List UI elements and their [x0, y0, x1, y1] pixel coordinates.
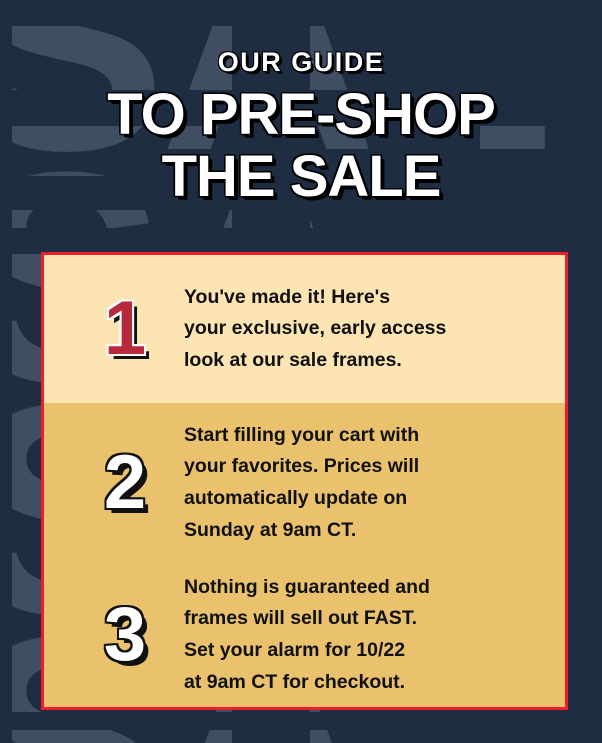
step-number: 3 — [66, 597, 184, 673]
headline-block: OUR GUIDE TO PRE-SHOP THE SALE — [0, 48, 602, 209]
step-text-line: automatically update on — [184, 483, 547, 515]
step-row: 3 Nothing is guaranteed and frames will … — [44, 563, 565, 707]
step-text-line: Set your alarm for 10/22 — [184, 635, 547, 667]
step-number: 1 — [66, 291, 184, 367]
step-text-line: your favorites. Prices will — [184, 451, 547, 483]
promo-poster: SALE SALE SALE SALE OUR GUIDE TO PRE-SHO… — [0, 0, 602, 743]
step-text-line: frames will sell out FAST. — [184, 603, 547, 635]
headline-line-2: THE SALE — [0, 146, 602, 209]
step-text-line: at 9am CT for checkout. — [184, 667, 547, 699]
step-text-line: You've made it! Here's — [184, 282, 547, 314]
step-text: You've made it! Here's your exclusive, e… — [184, 282, 565, 377]
step-row: 2 Start filling your cart with your favo… — [44, 403, 565, 563]
step-text: Start filling your cart with your favori… — [184, 420, 565, 546]
step-text-line: Start filling your cart with — [184, 420, 547, 452]
headline-kicker: OUR GUIDE — [0, 48, 602, 78]
step-text-line: your exclusive, early access — [184, 313, 547, 345]
step-text-line: Nothing is guaranteed and — [184, 572, 547, 604]
headline-line-1: TO PRE-SHOP — [0, 84, 602, 147]
step-text: Nothing is guaranteed and frames will se… — [184, 572, 565, 698]
background-stripe — [0, 228, 602, 254]
step-number: 2 — [66, 445, 184, 521]
background-stripe — [0, 712, 602, 730]
steps-panel: 1 You've made it! Here's your exclusive,… — [41, 252, 568, 710]
step-text-line: Sunday at 9am CT. — [184, 515, 547, 547]
step-row: 1 You've made it! Here's your exclusive,… — [44, 255, 565, 403]
step-text-line: look at our sale frames. — [184, 345, 547, 377]
background-stripe — [0, 0, 602, 26]
